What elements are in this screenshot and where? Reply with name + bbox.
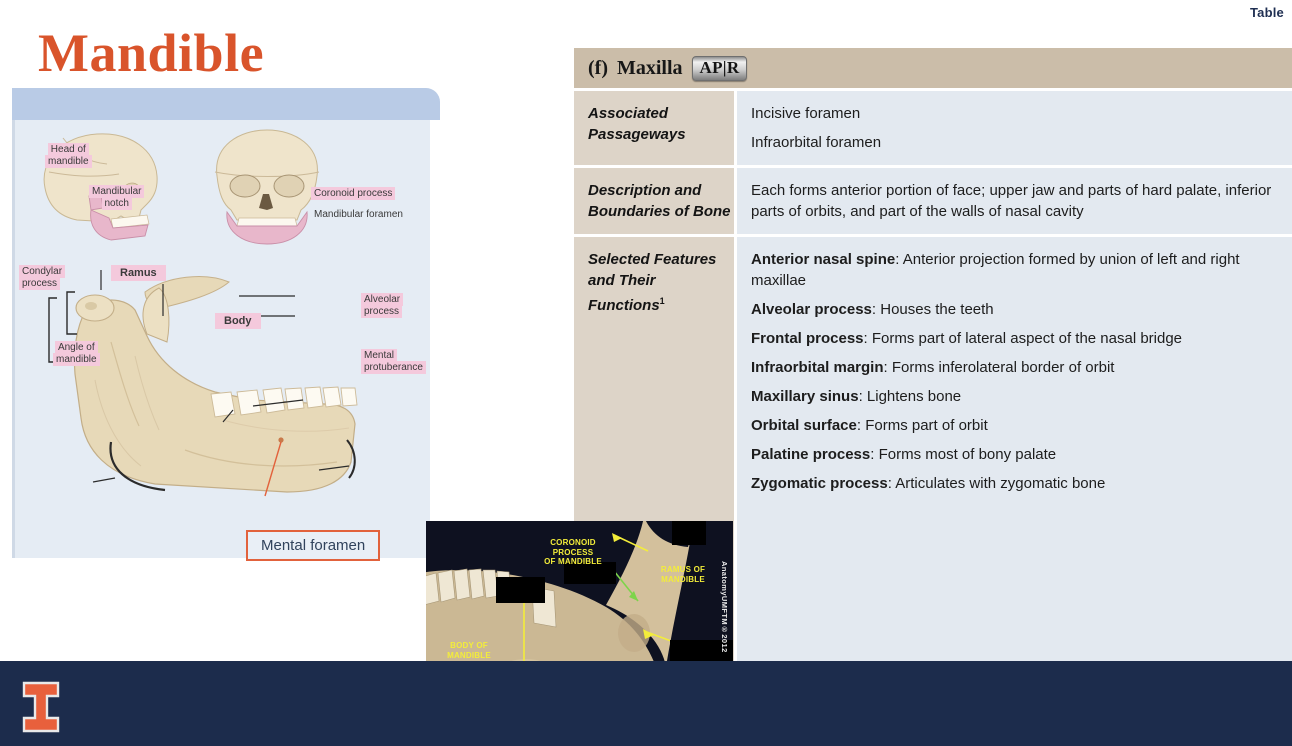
feature-term: Maxillary sinus [751,388,859,405]
feature-desc: : Houses the teeth [872,301,994,318]
table-header-letter: (f) [588,57,608,80]
list-item: Each forms anterior portion of face; upp… [751,180,1282,222]
label-ramus: Ramus [111,268,166,280]
row-label-text: Selected Features and Their Functions [588,251,716,314]
mental-foramen-callout: Mental foramen [246,530,380,561]
feature-term: Zygomatic process [751,475,888,492]
feature-term: Alveolar process [751,301,872,318]
figure-body: Head of mandible Mandibular notch Condyl… [12,120,430,558]
feature-term: Frontal process [751,330,864,347]
feature-term: Anterior nasal spine [751,251,895,268]
list-item: Infraorbital foramen [751,132,1282,153]
feature-term: Orbital surface [751,417,857,434]
apr-badge-icon[interactable]: AP|R [692,56,748,81]
label-head-of-mandible: Head of mandible [45,144,92,167]
feature-term: Infraorbital margin [751,359,884,376]
label-mental-protuberance: Mental protuberance [361,350,426,373]
footer-bar [0,661,1292,746]
label-mandibular-foramen: Mandibular foramen [311,209,406,221]
table-row: Description and Boundaries of Bone Each … [574,165,1292,234]
label-alveolar-process: Alveolar process [361,294,403,317]
table-row: Associated Passageways Incisive foramen … [574,88,1292,165]
block-i-logo-icon [22,681,60,733]
feature-desc: : Forms most of bony palate [870,446,1056,463]
mandible-figure-panel: Head of mandible Mandibular notch Condyl… [12,88,440,558]
list-item: Alveolar process: Houses the teeth [751,299,1282,320]
photo-label-coronoid-process: CORONOID PROCESSOF MANDIBLE [532,538,614,567]
table-corner-tag: Table [1250,5,1284,20]
row-value: Incisive foramen Infraorbital foramen [734,91,1292,165]
list-item: Palatine process: Forms most of bony pal… [751,444,1282,465]
feature-desc: : Lightens bone [859,388,962,405]
table-header: (f) Maxilla AP|R [574,48,1292,88]
list-item: Maxillary sinus: Lightens bone [751,386,1282,407]
row-value: Anterior nasal spine: Anterior projectio… [734,237,1292,674]
skull-orientation-illustration [15,120,433,250]
row-label: Description and Boundaries of Bone [574,168,734,234]
row-value: Each forms anterior portion of face; upp… [734,168,1292,234]
page-title: Mandible [38,22,264,84]
figure-header-bar [12,88,440,120]
feature-term: Palatine process [751,446,870,463]
list-item: Incisive foramen [751,103,1282,124]
feature-desc: : Forms part of lateral aspect of the na… [864,330,1183,347]
photo-label-body: BODY OFMANDIBLE [438,641,500,660]
redaction-box [496,577,545,603]
feature-desc: : Forms part of orbit [857,417,988,434]
feature-desc: : Articulates with zygomatic bone [888,475,1106,492]
redaction-box [672,521,706,545]
list-item: Zygomatic process: Articulates with zygo… [751,473,1282,494]
row-label-superscript: 1 [660,296,665,306]
label-mandibular-notch: Mandibular notch [89,186,144,209]
list-item: Anterior nasal spine: Anterior projectio… [751,249,1282,291]
label-angle-of-mandible: Angle of mandible [53,342,100,365]
list-item: Frontal process: Forms part of lateral a… [751,328,1282,349]
label-body: Body [215,316,261,328]
photo-watermark: AnatomyUMFTM®2012 [720,561,729,653]
list-item: Infraorbital margin: Forms inferolateral… [751,357,1282,378]
table-header-bone-name: Maxilla [617,57,683,80]
feature-desc: : Forms inferolateral border of orbit [884,359,1115,376]
list-item: Orbital surface: Forms part of orbit [751,415,1282,436]
row-label: Associated Passageways [574,91,734,165]
photo-label-ramus: RAMUS OFMANDIBLE [652,565,714,584]
label-condylar-process: Condylar process [19,266,65,289]
label-coronoid-process: Coronoid process [311,188,395,200]
